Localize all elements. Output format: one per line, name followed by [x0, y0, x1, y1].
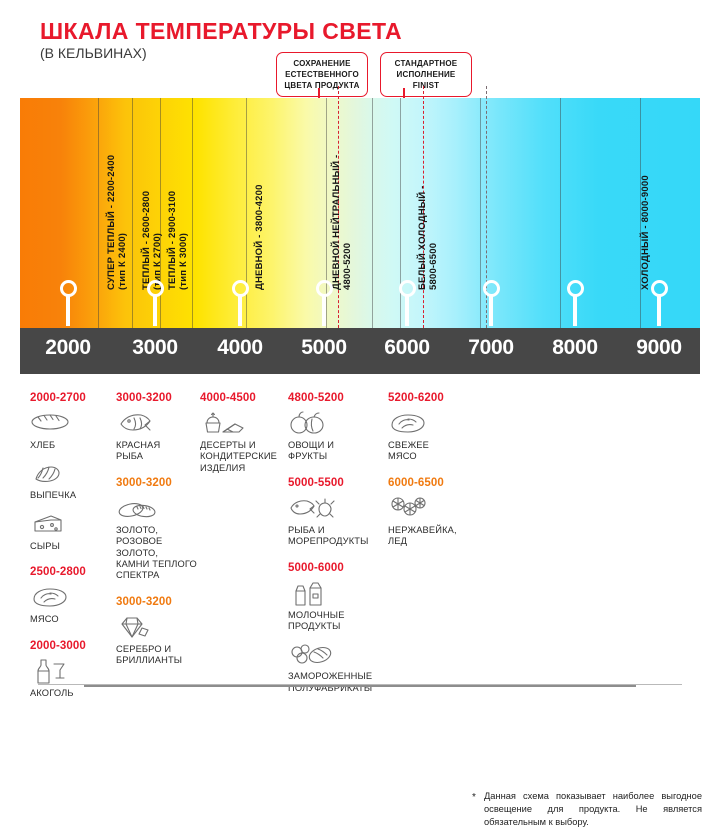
legend-block: 4800-5200ОВОЩИ ИФРУКТЫ: [288, 392, 376, 463]
scale-tick-7000: 7000: [456, 336, 526, 360]
scale-tick-2000: 2000: [33, 336, 103, 360]
callout-line: СОХРАНЕНИЕ: [284, 58, 360, 69]
legend-range-label: 3000-3200: [116, 477, 204, 489]
legend-item-caption: СВЕЖЕЕМЯСО: [388, 440, 476, 463]
legend-column: 5200-6200СВЕЖЕЕМЯСО6000-6500НЕРЖАВЕЙКА,Л…: [388, 392, 476, 562]
legend-block: 5000-6000МОЛОЧНЫЕ ПРОДУКТЫЗАМОРОЖЕННЫЕПО…: [288, 562, 376, 695]
scale-pin-9000: [649, 280, 669, 326]
legend-item: МОЛОЧНЫЕ ПРОДУКТЫ: [288, 580, 376, 633]
legend-range-label: 2000-3000: [30, 640, 118, 652]
legend-item-caption: КРАСНАЯРЫБА: [116, 440, 204, 463]
legend-column: 2000-2700ХЛЕБВЫПЕЧКАСЫРЫ2500-2800МЯСО200…: [30, 392, 118, 713]
scale-pin-2000: [58, 280, 78, 326]
steak-icon: [30, 584, 118, 614]
fresh-meat-icon: [388, 410, 476, 440]
frozen-icon: [288, 641, 376, 671]
pin-stem: [489, 296, 492, 326]
rings-icon: [116, 495, 204, 525]
legend-item: СВЕЖЕЕМЯСО: [388, 410, 476, 463]
legend-item-caption: ДЕСЕРТЫ ИКОНДИТЕРСКИЕИЗДЕЛИЯ: [200, 440, 288, 474]
callout-line: ЕСТЕСТВЕННОГО: [284, 69, 360, 80]
legend-block: 3000-3200СЕРЕБРО ИБРИЛЛИАНТЫ: [116, 596, 204, 667]
kelvin-scale: 20003000400050006000700080009000: [20, 328, 700, 374]
legend-item-caption: МОЛОЧНЫЕ ПРОДУКТЫ: [288, 610, 376, 633]
pin-ring: [651, 280, 668, 297]
band-label-sub: (тип К 3000): [178, 191, 189, 290]
callout-line: ЦВЕТА ПРОДУКТА: [284, 80, 360, 91]
legend-item: РЫБА ИМОРЕПРОДУКТЫ: [288, 495, 376, 548]
band-divider: [192, 98, 193, 328]
legend-item-caption: МЯСО: [30, 614, 118, 625]
scale-tick-3000: 3000: [120, 336, 190, 360]
bread-icon: [30, 410, 118, 440]
legend-range-label: 3000-3200: [116, 596, 204, 608]
band-label-sub: (тип К 2400): [117, 155, 128, 290]
pin-stem: [322, 296, 325, 326]
band-label-name: ТЕПЛЫЙ - 2900-3100: [167, 191, 178, 290]
legend-item: КРАСНАЯРЫБА: [116, 410, 204, 463]
legend-item-caption: СЕРЕБРО ИБРИЛЛИАНТЫ: [116, 644, 204, 667]
pin-ring: [483, 280, 500, 297]
legend-item-caption: СЫРЫ: [30, 541, 118, 552]
pin-stem: [238, 296, 241, 326]
pin-stem: [405, 296, 408, 326]
legend-item: МЯСО: [30, 584, 118, 625]
pin-ring: [147, 280, 164, 297]
band-label-sub: (тип К 2700): [152, 191, 163, 290]
legend-range-label: 4000-4500: [200, 392, 288, 404]
band-label-name: ХОЛОДНЫЙ - 8000-9000: [640, 175, 651, 290]
legend-block: 2500-2800МЯСО: [30, 566, 118, 625]
fish-icon: [116, 410, 204, 440]
legend-item: ВЫПЕЧКА: [30, 460, 118, 501]
dairy-icon: [288, 580, 376, 610]
fruits-icon: [288, 410, 376, 440]
scale-pin-5000: [314, 280, 334, 326]
scale-pin-4000: [230, 280, 250, 326]
page-subtitle: (В КЕЛЬВИНАХ): [40, 45, 147, 61]
croissant-icon: [30, 460, 118, 490]
band-divider: [98, 98, 99, 328]
band-label-name: ДНЕВНОЙ - 3800-4200: [254, 184, 265, 290]
pin-ring: [60, 280, 77, 297]
scale-pin-6000: [397, 280, 417, 326]
scale-tick-9000: 9000: [624, 336, 694, 360]
legend-item-caption: ВЫПЕЧКА: [30, 490, 118, 501]
diamond-icon: [116, 614, 204, 644]
legend-column: 4000-4500ДЕСЕРТЫ ИКОНДИТЕРСКИЕИЗДЕЛИЯ: [200, 392, 288, 488]
pin-stem: [573, 296, 576, 326]
legend-block: 2000-2700ХЛЕБВЫПЕЧКАСЫРЫ: [30, 392, 118, 552]
legend-item: НЕРЖАВЕЙКА,ЛЕД: [388, 495, 476, 548]
legend-range-label: 4800-5200: [288, 392, 376, 404]
legend-item-caption: ЗОЛОТО,РОЗОВОЕ ЗОЛОТО,КАМНИ ТЕПЛОГОСПЕКТ…: [116, 525, 204, 582]
callout-natural-color: СОХРАНЕНИЕЕСТЕСТВЕННОГОЦВЕТА ПРОДУКТА: [276, 52, 368, 97]
legend-item: ОВОЩИ ИФРУКТЫ: [288, 410, 376, 463]
legend-item-caption: ХЛЕБ: [30, 440, 118, 451]
pin-ring: [316, 280, 333, 297]
pin-ring: [232, 280, 249, 297]
pin-stem: [66, 296, 69, 326]
legend-column: 3000-3200КРАСНАЯРЫБА3000-3200ЗОЛОТО,РОЗО…: [116, 392, 204, 681]
legend-range-label: 5000-5500: [288, 477, 376, 489]
pin-stem: [153, 296, 156, 326]
band-divider: [560, 98, 561, 328]
callout-line: ИСПОЛНЕНИЕ: [388, 69, 464, 80]
legend-item: ХЛЕБ: [30, 410, 118, 451]
scale-pin-8000: [565, 280, 585, 326]
legend-item: СЕРЕБРО ИБРИЛЛИАНТЫ: [116, 614, 204, 667]
band-label-sub: 5800-6500: [428, 185, 439, 290]
legend-item-caption: ЗАМОРОЖЕННЫЕПОЛУФАБРИКАТЫ: [288, 671, 376, 694]
footnote-text: Данная схема показывает наиболее выгодно…: [484, 791, 702, 827]
scale-pin-3000: [145, 280, 165, 326]
legend-item: АКОГОЛЬ: [30, 658, 118, 699]
product-legend: 2000-2700ХЛЕБВЫПЕЧКАСЫРЫ2500-2800МЯСО200…: [0, 392, 720, 682]
legend-block: 5000-5500РЫБА ИМОРЕПРОДУКТЫ: [288, 477, 376, 548]
legend-column: 4800-5200ОВОЩИ ИФРУКТЫ5000-5500РЫБА ИМОР…: [288, 392, 376, 708]
temperature-gradient-bar: СУПЕР ТЕПЛЫЙ - 2200-2400(тип К 2400)ТЕПЛ…: [20, 98, 700, 328]
legend-block: 6000-6500НЕРЖАВЕЙКА,ЛЕД: [388, 477, 476, 548]
band-label-name: СУПЕР ТЕПЛЫЙ - 2200-2400: [106, 155, 117, 290]
legend-range-label: 6000-6500: [388, 477, 476, 489]
callout-line: FINIST: [388, 80, 464, 91]
legend-range-label: 2000-2700: [30, 392, 118, 404]
footnote: * Данная схема показывает наиболее выгод…: [484, 790, 702, 830]
legend-block: 5200-6200СВЕЖЕЕМЯСО: [388, 392, 476, 463]
band-label-name: ТЕПЛЫЙ - 2600-2800: [141, 191, 152, 290]
bottom-divider-thick: [84, 685, 636, 687]
legend-item-caption: НЕРЖАВЕЙКА,ЛЕД: [388, 525, 476, 548]
scale-tick-5000: 5000: [289, 336, 359, 360]
pin-ring: [399, 280, 416, 297]
band-label-name: БЕЛЫЙ ХОЛОДНЫЙ -: [417, 185, 428, 290]
legend-block: 3000-3200КРАСНАЯРЫБА: [116, 392, 204, 463]
legend-item: СЫРЫ: [30, 511, 118, 552]
legend-item-caption: РЫБА ИМОРЕПРОДУКТЫ: [288, 525, 376, 548]
scale-tick-8000: 8000: [540, 336, 610, 360]
scale-pin-7000: [481, 280, 501, 326]
band-divider: [132, 98, 133, 328]
legend-range-label: 3000-3200: [116, 392, 204, 404]
legend-block: 3000-3200ЗОЛОТО,РОЗОВОЕ ЗОЛОТО,КАМНИ ТЕП…: [116, 477, 204, 582]
footnote-marker: *: [472, 791, 476, 804]
legend-item: ЗОЛОТО,РОЗОВОЕ ЗОЛОТО,КАМНИ ТЕПЛОГОСПЕКТ…: [116, 495, 204, 582]
band-label-name: ДНЕВНОЙ НЕЙТРАЛЬНЫЙ -: [331, 155, 342, 290]
legend-block: 4000-4500ДЕСЕРТЫ ИКОНДИТЕРСКИЕИЗДЕЛИЯ: [200, 392, 288, 474]
dessert-icon: [200, 410, 288, 440]
steel-ice-icon: [388, 495, 476, 525]
pin-ring: [567, 280, 584, 297]
legend-block: 2000-3000АКОГОЛЬ: [30, 640, 118, 699]
page-title: ШКАЛА ТЕМПЕРАТУРЫ СВЕТА: [40, 18, 402, 45]
cheese-icon: [30, 511, 118, 541]
band-divider: [372, 98, 373, 328]
pin-stem: [657, 296, 660, 326]
legend-item-caption: ОВОЩИ ИФРУКТЫ: [288, 440, 376, 463]
callout-line: СТАНДАРТНОЕ: [388, 58, 464, 69]
legend-range-label: 5200-6200: [388, 392, 476, 404]
legend-item-caption: АКОГОЛЬ: [30, 688, 118, 699]
callout-finist-standard: СТАНДАРТНОЕИСПОЛНЕНИЕFINIST: [380, 52, 472, 97]
legend-range-label: 2500-2800: [30, 566, 118, 578]
legend-range-label: 5000-6000: [288, 562, 376, 574]
scale-tick-6000: 6000: [372, 336, 442, 360]
scale-tick-4000: 4000: [205, 336, 275, 360]
seafood-icon: [288, 495, 376, 525]
band-label-sub: 4800-5200: [342, 155, 353, 290]
legend-item: ДЕСЕРТЫ ИКОНДИТЕРСКИЕИЗДЕЛИЯ: [200, 410, 288, 474]
